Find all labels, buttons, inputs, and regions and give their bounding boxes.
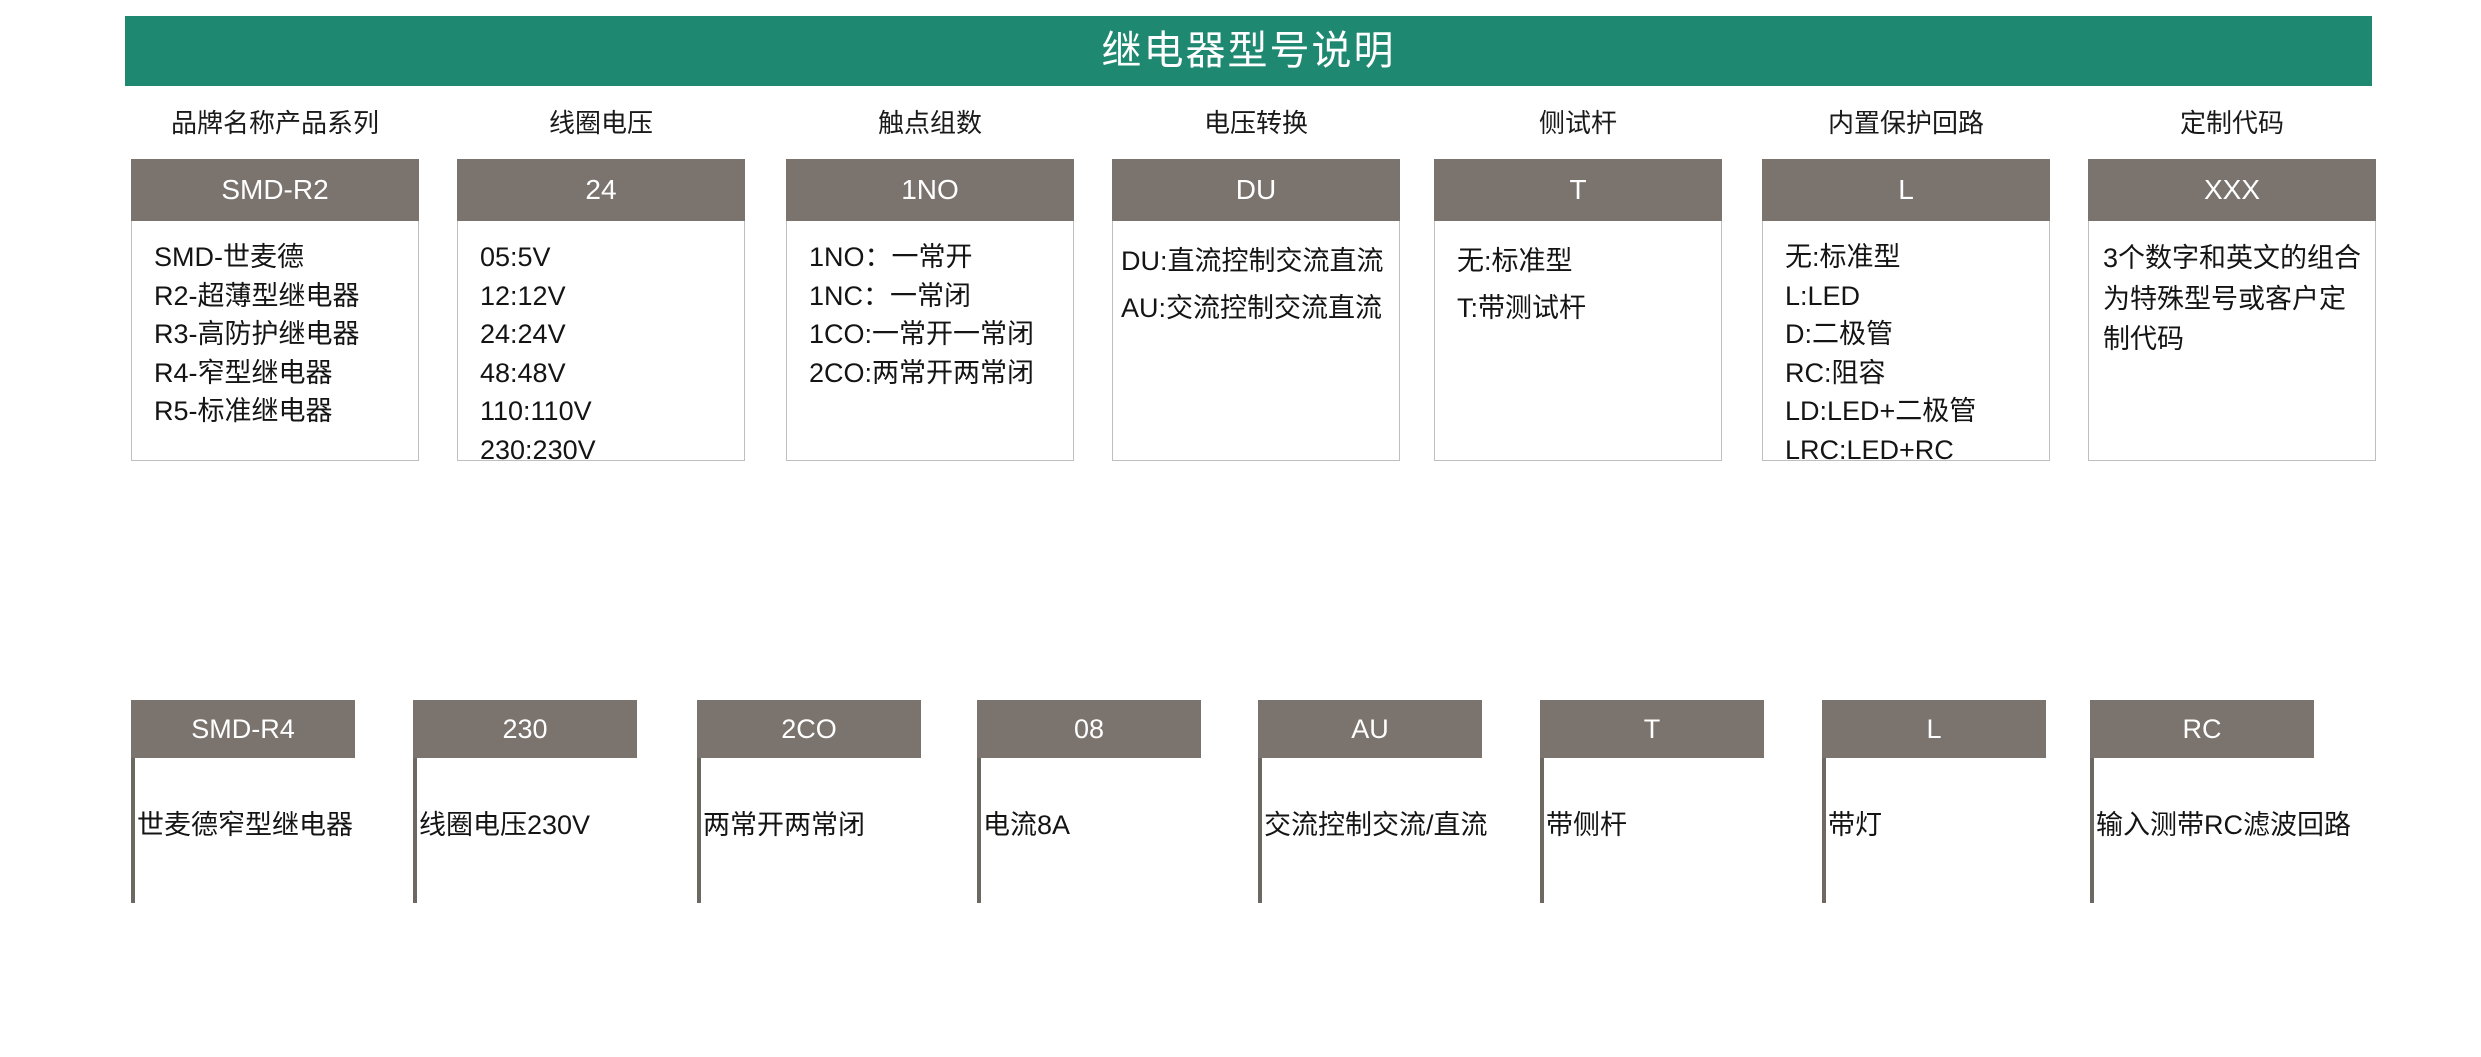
spec-column-label: 品牌名称产品系列 — [131, 110, 419, 142]
example-code-badge: SMD-R4 — [131, 700, 355, 758]
example-item: 230 线圈电压230V — [413, 700, 637, 758]
spec-line: 48:48V — [480, 354, 744, 393]
spec-line: L:LED — [1785, 277, 2049, 316]
spec-column-test-lever: 侧试杆 T 无:标准型 T:带测试杆 — [1434, 110, 1722, 461]
spec-line: 1NC：一常闭 — [809, 277, 1073, 316]
spec-column-label: 电压转换 — [1112, 110, 1400, 142]
example-item: SMD-R4 世麦德窄型继电器 — [131, 700, 355, 758]
example-item: AU 交流控制交流/直流 — [1258, 700, 1482, 758]
spec-line: RC:阻容 — [1785, 354, 2049, 393]
example-caption: 两常开两常闭 — [703, 812, 865, 839]
spec-column-code-badge: DU — [1112, 159, 1400, 221]
example-caption: 电流8A — [983, 812, 1070, 839]
spec-line: 2CO:两常开两常闭 — [809, 354, 1073, 393]
example-item: L 带灯 — [1822, 700, 2046, 758]
spec-line: LD:LED+二极管 — [1785, 392, 2049, 431]
example-stem-line — [697, 758, 701, 903]
example-stem-line — [1822, 758, 1826, 903]
example-caption: 世麦德窄型继电器 — [137, 812, 353, 839]
spec-line: 1NO：一常开 — [809, 238, 1073, 277]
example-code-badge: AU — [1258, 700, 1482, 758]
spec-line: AU:交流控制交流直流 — [1121, 285, 1399, 332]
spec-line: 无:标准型 — [1785, 238, 2049, 277]
spec-column-body: 05:5V 12:12V 24:24V 48:48V 110:110V 230:… — [457, 221, 745, 461]
spec-line: 3个数字和英文的组合为特殊型号或客户定制代码 — [2103, 238, 2371, 360]
example-code-badge: 2CO — [697, 700, 921, 758]
example-caption: 带侧杆 — [1546, 812, 1627, 839]
page-title-bar: 继电器型号说明 — [125, 16, 2372, 86]
model-code-breakdown-section: 品牌名称产品系列 SMD-R2 SMD-世麦德 R2-超薄型继电器 R3-高防护… — [0, 110, 2481, 540]
model-code-example-section: SMD-R4 世麦德窄型继电器 230 线圈电压230V 2CO 两常开两常闭 … — [0, 700, 2481, 960]
spec-column-body: DU:直流控制交流直流 AU:交流控制交流直流 — [1112, 221, 1400, 461]
spec-column-body: 3个数字和英文的组合为特殊型号或客户定制代码 — [2088, 221, 2376, 461]
spec-column-body: SMD-世麦德 R2-超薄型继电器 R3-高防护继电器 R4-窄型继电器 R5-… — [131, 221, 419, 461]
spec-column-label: 内置保护回路 — [1762, 110, 2050, 142]
spec-column-coil-voltage: 线圈电压 24 05:5V 12:12V 24:24V 48:48V 110:1… — [457, 110, 745, 461]
spec-line: 24:24V — [480, 315, 744, 354]
spec-line: DU:直流控制交流直流 — [1121, 238, 1399, 285]
example-code-badge: 230 — [413, 700, 637, 758]
example-item: T 带侧杆 — [1540, 700, 1764, 758]
example-code-badge: T — [1540, 700, 1764, 758]
spec-column-code-badge: XXX — [2088, 159, 2376, 221]
spec-column-body: 1NO：一常开 1NC：一常闭 1CO:一常开一常闭 2CO:两常开两常闭 — [786, 221, 1074, 461]
spec-column-code-badge: L — [1762, 159, 2050, 221]
example-code-badge: RC — [2090, 700, 2314, 758]
spec-line: R3-高防护继电器 — [154, 315, 418, 354]
example-item: 2CO 两常开两常闭 — [697, 700, 921, 758]
spec-column-label: 侧试杆 — [1434, 110, 1722, 142]
spec-line: R5-标准继电器 — [154, 392, 418, 431]
example-caption: 线圈电压230V — [419, 812, 590, 839]
spec-line: 05:5V — [480, 238, 744, 277]
spec-column-brand-series: 品牌名称产品系列 SMD-R2 SMD-世麦德 R2-超薄型继电器 R3-高防护… — [131, 110, 419, 461]
spec-column-body: 无:标准型 T:带测试杆 — [1434, 221, 1722, 461]
spec-column-protection-circuit: 内置保护回路 L 无:标准型 L:LED D:二极管 RC:阻容 LD:LED+… — [1762, 110, 2050, 461]
example-stem-line — [131, 758, 135, 903]
spec-column-label: 定制代码 — [2088, 110, 2376, 142]
example-caption: 带灯 — [1828, 812, 1882, 839]
spec-column-contact-sets: 触点组数 1NO 1NO：一常开 1NC：一常闭 1CO:一常开一常闭 2CO:… — [786, 110, 1074, 461]
example-stem-line — [1540, 758, 1544, 903]
spec-line: R2-超薄型继电器 — [154, 277, 418, 316]
spec-line: 12:12V — [480, 277, 744, 316]
example-stem-line — [413, 758, 417, 903]
spec-line: LRC:LED+RC — [1785, 431, 2049, 470]
spec-column-label: 触点组数 — [786, 110, 1074, 142]
spec-line: 1CO:一常开一常闭 — [809, 315, 1073, 354]
spec-line: R4-窄型继电器 — [154, 354, 418, 393]
spec-column-code-badge: SMD-R2 — [131, 159, 419, 221]
spec-column-body: 无:标准型 L:LED D:二极管 RC:阻容 LD:LED+二极管 LRC:L… — [1762, 221, 2050, 461]
spec-column-code-badge: 1NO — [786, 159, 1074, 221]
spec-line: SMD-世麦德 — [154, 238, 418, 277]
spec-line: D:二极管 — [1785, 315, 2049, 354]
page-title: 继电器型号说明 — [1102, 31, 1396, 71]
spec-column-code-badge: T — [1434, 159, 1722, 221]
spec-column-custom-code: 定制代码 XXX 3个数字和英文的组合为特殊型号或客户定制代码 — [2088, 110, 2376, 461]
example-stem-line — [1258, 758, 1262, 903]
example-item: 08 电流8A — [977, 700, 1201, 758]
example-caption: 输入测带RC滤波回路 — [2096, 812, 2351, 839]
example-stem-line — [2090, 758, 2094, 903]
spec-column-label: 线圈电压 — [457, 110, 745, 142]
spec-line: 230:230V — [480, 431, 744, 470]
spec-column-code-badge: 24 — [457, 159, 745, 221]
spec-column-voltage-conversion: 电压转换 DU DU:直流控制交流直流 AU:交流控制交流直流 — [1112, 110, 1400, 461]
spec-line: 110:110V — [480, 392, 744, 431]
example-caption: 交流控制交流/直流 — [1264, 812, 1488, 839]
spec-line: T:带测试杆 — [1457, 285, 1721, 332]
example-code-badge: L — [1822, 700, 2046, 758]
spec-line: 无:标准型 — [1457, 238, 1721, 285]
example-stem-line — [977, 758, 981, 903]
example-code-badge: 08 — [977, 700, 1201, 758]
example-item: RC 输入测带RC滤波回路 — [2090, 700, 2314, 758]
